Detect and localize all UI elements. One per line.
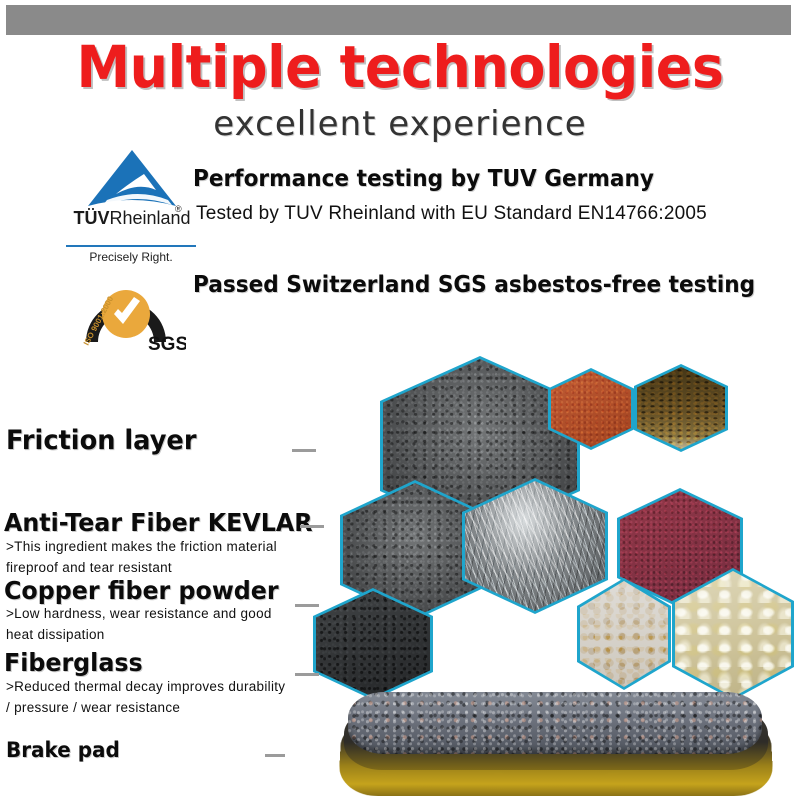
brake-pad-photo [336, 690, 776, 802]
tuv-detail: Tested by TUV Rheinland with EU Standard… [196, 203, 707, 225]
tuv-triangle-icon [86, 148, 178, 210]
annotation-tick-friction-layer [292, 449, 316, 452]
pellet-texture [580, 581, 668, 687]
tuv-divider [66, 245, 196, 247]
tuv-wordmark: TÜVRheinland [72, 208, 192, 229]
granule-texture [316, 591, 430, 697]
tuv-heading: Performance testing by TUV Germany [193, 166, 654, 192]
annotation-description-kevlar: >This ingredient makes the friction mate… [6, 536, 306, 578]
promo-page: Multiple technologies excellent experien… [0, 0, 800, 808]
registered-trademark-icon: ® [175, 204, 182, 214]
sgs-heading: Passed Switzerland SGS asbestos-free tes… [193, 272, 755, 298]
brown-fiber-hexagon [634, 364, 728, 452]
top-grey-band [6, 5, 791, 35]
page-subtitle: excellent experience [0, 104, 800, 144]
annotation-label-brake-pad: Brake pad [6, 738, 120, 762]
tuv-rheinland-logo: TÜVRheinland ® [72, 148, 192, 248]
annotation-tick-kevlar [300, 525, 324, 528]
annotation-label-kevlar: Anti-Tear Fiber KEVLAR [4, 508, 313, 537]
svg-text:SYSTEM CERTIFICATION: SYSTEM CERTIFICATION [81, 278, 171, 287]
sgs-iso-certification-logo: SYSTEM CERTIFICATION ISO 9001:2000 SGS [74, 268, 186, 354]
tuv-tagline: Precisely Right. [66, 250, 196, 264]
copper-texture [551, 371, 631, 447]
annotation-label-friction-layer: Friction layer [6, 425, 196, 456]
brake-pad-friction-surface [348, 692, 762, 754]
fiber-texture [637, 367, 725, 449]
svg-text:SGS: SGS [148, 334, 186, 354]
tuv-wordmark-bold: TÜV [73, 208, 109, 228]
page-title: Multiple technologies [28, 36, 772, 98]
annotation-description-copper-fiber-powder: >Low hardness, wear resistance and good … [6, 603, 306, 645]
annotation-tick-brake-pad [265, 754, 285, 757]
annotation-label-copper-fiber-powder: Copper fiber powder [4, 576, 279, 605]
annotation-label-fiberglass: Fiberglass [4, 648, 143, 677]
annotation-description-fiberglass: >Reduced thermal decay improves durabili… [6, 676, 326, 718]
